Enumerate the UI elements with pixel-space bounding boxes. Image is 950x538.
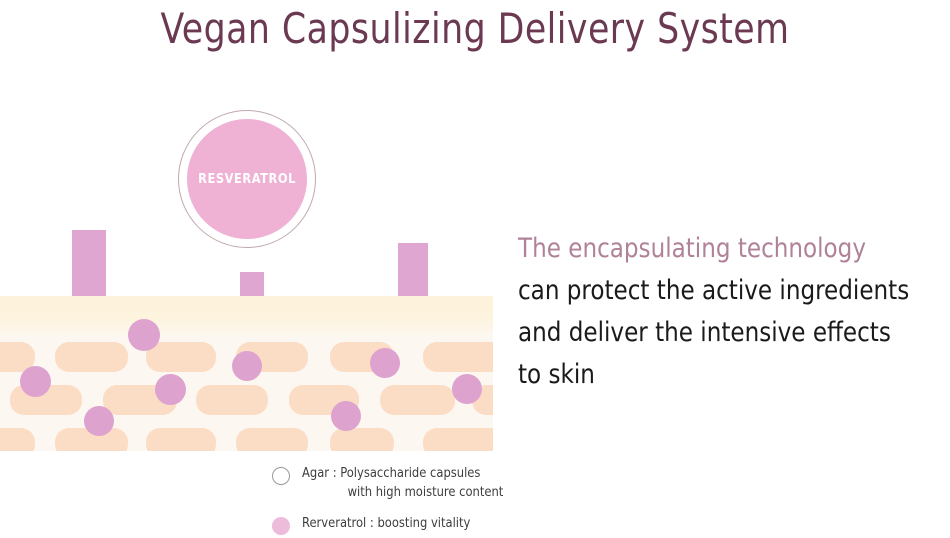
resveratrol-bead bbox=[155, 374, 186, 405]
legend-item-agar-label: Agar : Polysaccharide capsuleswith high … bbox=[302, 464, 559, 502]
resveratrol-bead bbox=[232, 351, 262, 381]
skin-layer-illustration bbox=[0, 296, 493, 451]
agar-capsule bbox=[380, 385, 455, 415]
capsule-label: RESVERATROL bbox=[198, 171, 296, 187]
agar-capsule bbox=[55, 342, 128, 372]
page-title: Vegan Capsulizing Delivery System bbox=[38, 4, 912, 53]
legend: Agar : Polysaccharide capsuleswith high … bbox=[272, 464, 572, 538]
agar-capsule bbox=[146, 428, 216, 451]
agar-capsule bbox=[146, 342, 216, 372]
description-paragraph: The encapsulating technology can protect… bbox=[518, 228, 927, 396]
legend-item-resveratrol: Rerveratrol : boosting vitality bbox=[272, 514, 572, 538]
resveratrol-bead bbox=[20, 366, 51, 397]
resveratrol-bead bbox=[128, 319, 160, 351]
resveratrol-bead bbox=[84, 406, 114, 436]
legend-agar-line-2: with high moisture content bbox=[302, 483, 559, 502]
agar-capsule bbox=[236, 428, 308, 451]
agar-capsule bbox=[423, 342, 493, 372]
capsule-inner-circle: RESVERATROL bbox=[187, 119, 307, 239]
resveratrol-capsule: RESVERATROL bbox=[178, 110, 318, 250]
agar-capsule bbox=[423, 428, 493, 451]
description-line-1: The encapsulating technology bbox=[518, 228, 927, 270]
agar-capsule bbox=[330, 428, 394, 451]
description-line-3: and deliver the intensive effects bbox=[518, 312, 927, 354]
skin-surface-band bbox=[0, 296, 493, 334]
description-line-2: can protect the active ingredients bbox=[518, 270, 927, 312]
filled-circle-icon bbox=[272, 517, 290, 535]
agar-capsule bbox=[196, 385, 268, 415]
legend-agar-line-1: Agar : Polysaccharide capsules bbox=[302, 465, 480, 481]
resveratrol-bead bbox=[370, 348, 400, 378]
description-line-4: to skin bbox=[518, 354, 927, 396]
resveratrol-bead bbox=[452, 374, 482, 404]
hollow-circle-icon bbox=[272, 467, 290, 485]
legend-item-resveratrol-label: Rerveratrol : boosting vitality bbox=[302, 514, 559, 533]
legend-item-agar: Agar : Polysaccharide capsuleswith high … bbox=[272, 464, 572, 502]
agar-capsule bbox=[0, 428, 35, 451]
resveratrol-bead bbox=[331, 401, 361, 431]
